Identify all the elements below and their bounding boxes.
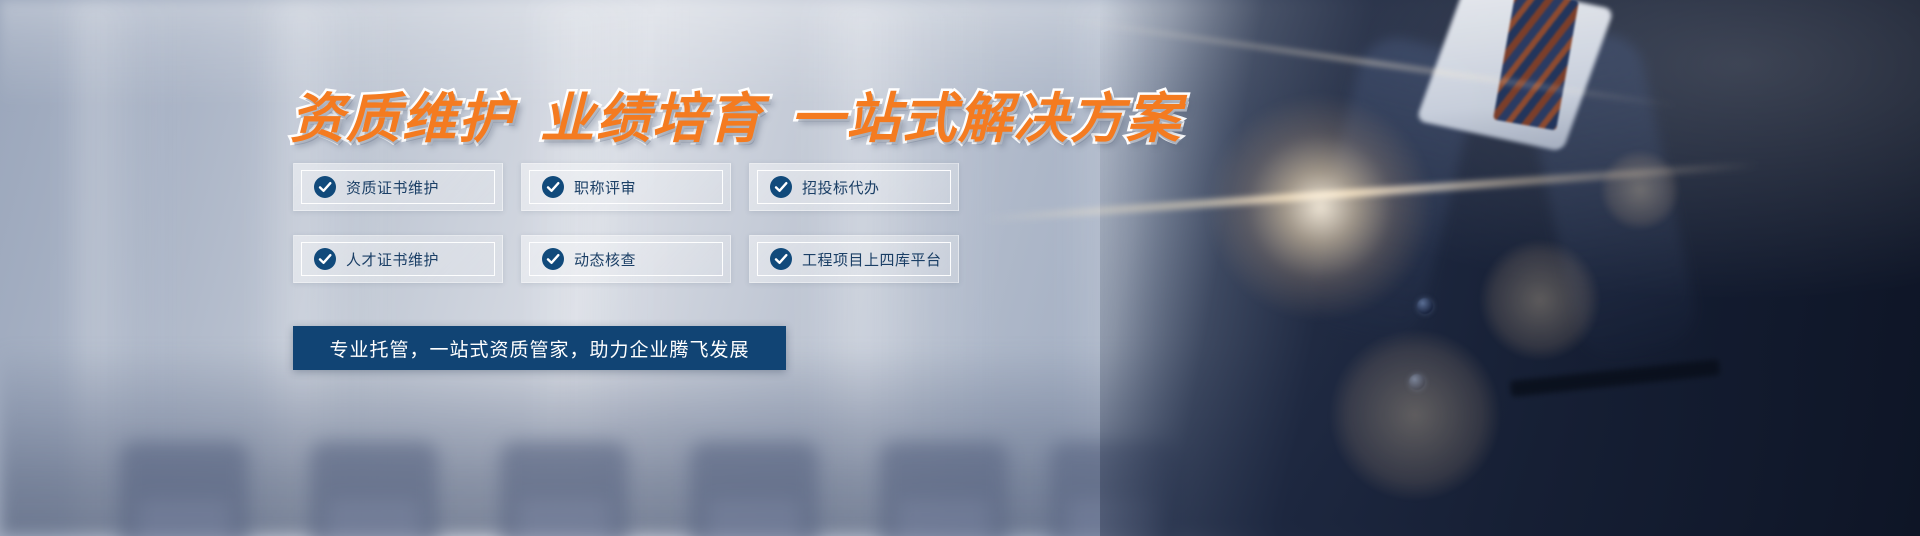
- check-circle-icon: [542, 176, 564, 198]
- headline-segment-2: 业绩培育: [540, 87, 764, 150]
- feature-item-four-database-platform[interactable]: 工程项目上四库平台: [749, 235, 959, 283]
- banner-content: 资质维护业绩培育一站式解决方案 资质证书维护 职称评审: [0, 0, 1200, 536]
- feature-item-talent-certificate-maintenance[interactable]: 人才证书维护: [293, 235, 503, 283]
- feature-item-qualification-certificate-maintenance[interactable]: 资质证书维护: [293, 163, 503, 211]
- feature-grid: 资质证书维护 职称评审 招投标代办: [293, 163, 959, 283]
- headline-segment-1: 资质维护: [290, 87, 514, 150]
- check-circle-icon: [770, 176, 792, 198]
- feature-label: 动态核查: [574, 249, 636, 270]
- banner-headline: 资质维护业绩培育一站式解决方案: [290, 74, 1182, 153]
- tagline-bar: 专业托管，一站式资质管家，助力企业腾飞发展: [293, 326, 786, 370]
- feature-label: 职称评审: [574, 177, 636, 198]
- lens-flare-ghost-3: [1600, 150, 1680, 230]
- suit-pocket: [1510, 359, 1721, 397]
- check-circle-icon: [314, 176, 336, 198]
- lens-flare-ghost-1: [1480, 240, 1600, 360]
- lens-flare-ghost-2: [1330, 330, 1500, 500]
- sun-glare: [1205, 92, 1435, 322]
- promo-banner: 资质维护业绩培育一站式解决方案 资质证书维护 职称评审: [0, 0, 1920, 536]
- feature-label: 资质证书维护: [346, 177, 439, 198]
- feature-item-bidding-agency[interactable]: 招投标代办: [749, 163, 959, 211]
- feature-label: 招投标代办: [802, 177, 880, 198]
- check-circle-icon: [314, 248, 336, 270]
- feature-item-dynamic-verification[interactable]: 动态核查: [521, 235, 731, 283]
- feature-label: 人才证书维护: [346, 249, 439, 270]
- check-circle-icon: [770, 248, 792, 270]
- feature-item-title-evaluation[interactable]: 职称评审: [521, 163, 731, 211]
- headline-segment-3: 一站式解决方案: [790, 87, 1182, 150]
- feature-label: 工程项目上四库平台: [802, 249, 942, 270]
- check-circle-icon: [542, 248, 564, 270]
